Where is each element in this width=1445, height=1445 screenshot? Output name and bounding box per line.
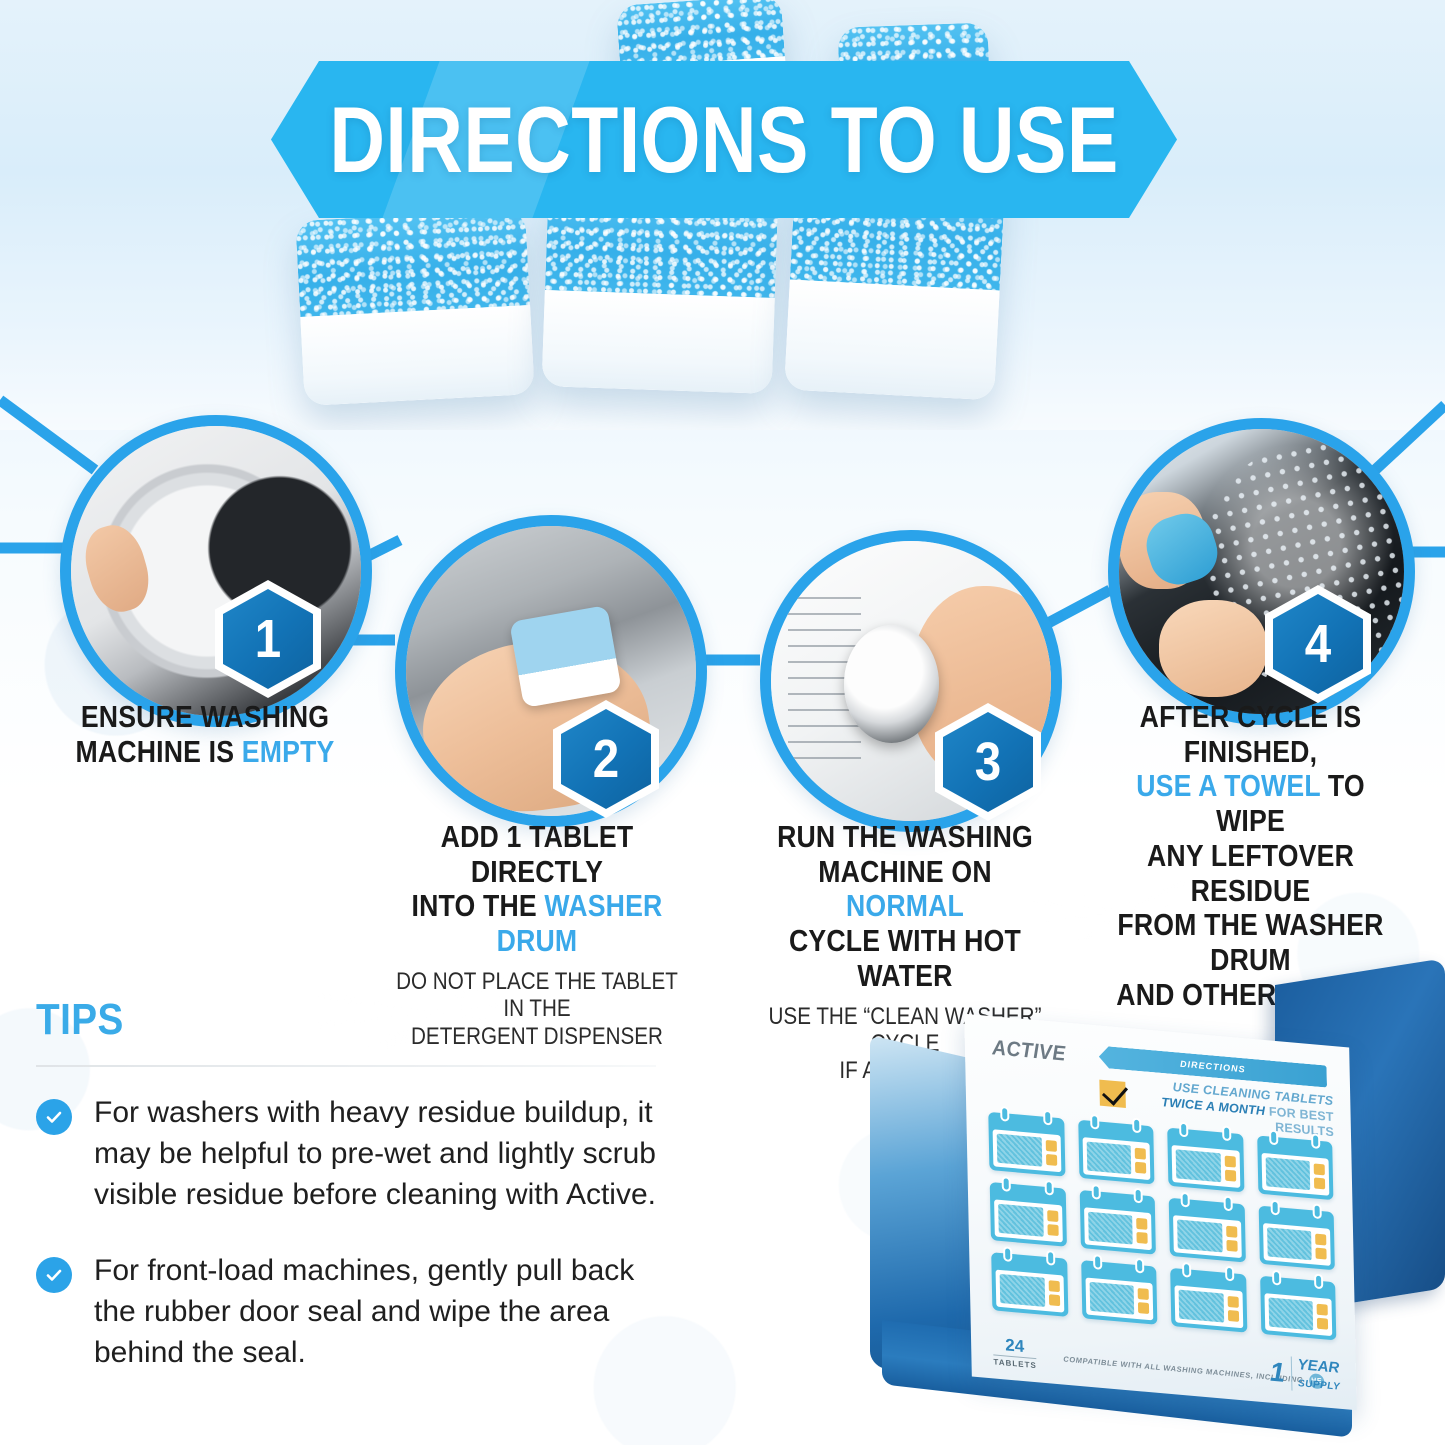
step-1-line-1: ENSURE WASHING (81, 699, 329, 734)
calendar-grid (988, 1112, 1336, 1341)
supply-year-label: YEAR (1297, 1356, 1339, 1377)
box-supply-info: 1 YEAR SUPPLY (1269, 1355, 1340, 1395)
brand-logo: ACTIVE (992, 1036, 1066, 1067)
step-3-line-1: RUN THE WASHING (777, 819, 1033, 854)
step-3-line-2-highlight: NORMAL (846, 888, 964, 923)
tablet-photo-1 (295, 209, 534, 406)
step-1-caption: ENSURE WASHING MACHINE IS EMPTY (40, 700, 370, 769)
tablet-count-unit: TABLETS (993, 1354, 1037, 1370)
step-4-line-1: AFTER CYCLE IS FINISHED, (1140, 699, 1362, 769)
compatibility-text: COMPATIBLE WITH ALL WASHING MACHINES, IN… (1063, 1354, 1303, 1384)
tips-divider (36, 1065, 656, 1067)
tip-item: For front-load machines, gently pull bac… (36, 1251, 656, 1373)
tip-text: For front-load machines, gently pull bac… (94, 1251, 656, 1373)
step-2-photo (395, 515, 707, 827)
step-4-line-4: FROM THE WASHER DRUM (1117, 907, 1383, 977)
step-1-line-2-highlight: EMPTY (242, 734, 335, 769)
supply-word-label: SUPPLY (1298, 1378, 1341, 1393)
calendar-icon (1170, 1268, 1247, 1333)
washer-door-image (71, 426, 361, 716)
calendar-icon (1258, 1206, 1335, 1271)
calendar-icon (1260, 1276, 1337, 1341)
box-checkbox-icon (1099, 1080, 1126, 1108)
step-4-caption: AFTER CYCLE IS FINISHED, USE A TOWEL TO … (1078, 700, 1423, 1012)
step-4-line-3: ANY LEFTOVER RESIDUE (1147, 838, 1354, 908)
box-inner-face: ACTIVE DIRECTIONS USE CLEANING TABLETS T… (964, 1014, 1356, 1410)
calendar-icon (990, 1182, 1067, 1247)
check-icon (36, 1099, 72, 1135)
page-title: DIRECTIONS TO USE (353, 61, 1096, 218)
tips-section: TIPS For washers with heavy residue buil… (36, 995, 656, 1410)
step-1-line-2-pre: MACHINE IS (75, 734, 241, 769)
step-3-line-2-pre: MACHINE ON (818, 854, 992, 889)
infographic-canvas: DIRECTIONS TO USE 1 ENSURE WASHING MACHI… (0, 0, 1445, 1445)
check-icon (36, 1257, 72, 1293)
box-directions-label: DIRECTIONS (1180, 1059, 1246, 1075)
step-3-line-3: CYCLE WITH HOT WATER (789, 923, 1021, 993)
product-box: ACTIVE DIRECTIONS USE CLEANING TABLETS T… (860, 985, 1445, 1445)
header-banner: DIRECTIONS TO USE (271, 61, 1177, 218)
box-tablet-count: 24 TABLETS (993, 1335, 1037, 1370)
calendar-icon (1079, 1190, 1156, 1255)
calendar-icon (991, 1252, 1068, 1317)
step-2-line-2-pre: INTO THE (412, 888, 545, 923)
step-1-number: 1 (255, 612, 281, 666)
step-2-line-1: ADD 1 TABLET DIRECTLY (441, 819, 634, 889)
step-1-photo (60, 415, 372, 727)
calendar-icon (1169, 1198, 1246, 1263)
step-4-number: 4 (1305, 617, 1331, 671)
step-3-number: 3 (975, 735, 1001, 789)
calendar-icon (1167, 1128, 1244, 1193)
tips-heading: TIPS (36, 995, 582, 1045)
calendar-icon (988, 1112, 1065, 1177)
tip-item: For washers with heavy residue buildup, … (36, 1093, 656, 1215)
step-4-line-2-highlight: USE A TOWEL (1136, 768, 1320, 803)
step-2-number: 2 (593, 732, 619, 786)
step-4-photo (1108, 418, 1415, 725)
calendar-icon (1081, 1260, 1158, 1325)
tablet-count-number: 24 (993, 1335, 1037, 1356)
supply-number: 1 (1270, 1358, 1286, 1386)
tip-text: For washers with heavy residue buildup, … (94, 1093, 656, 1215)
calendar-icon (1078, 1120, 1155, 1185)
calendar-icon (1257, 1135, 1334, 1200)
